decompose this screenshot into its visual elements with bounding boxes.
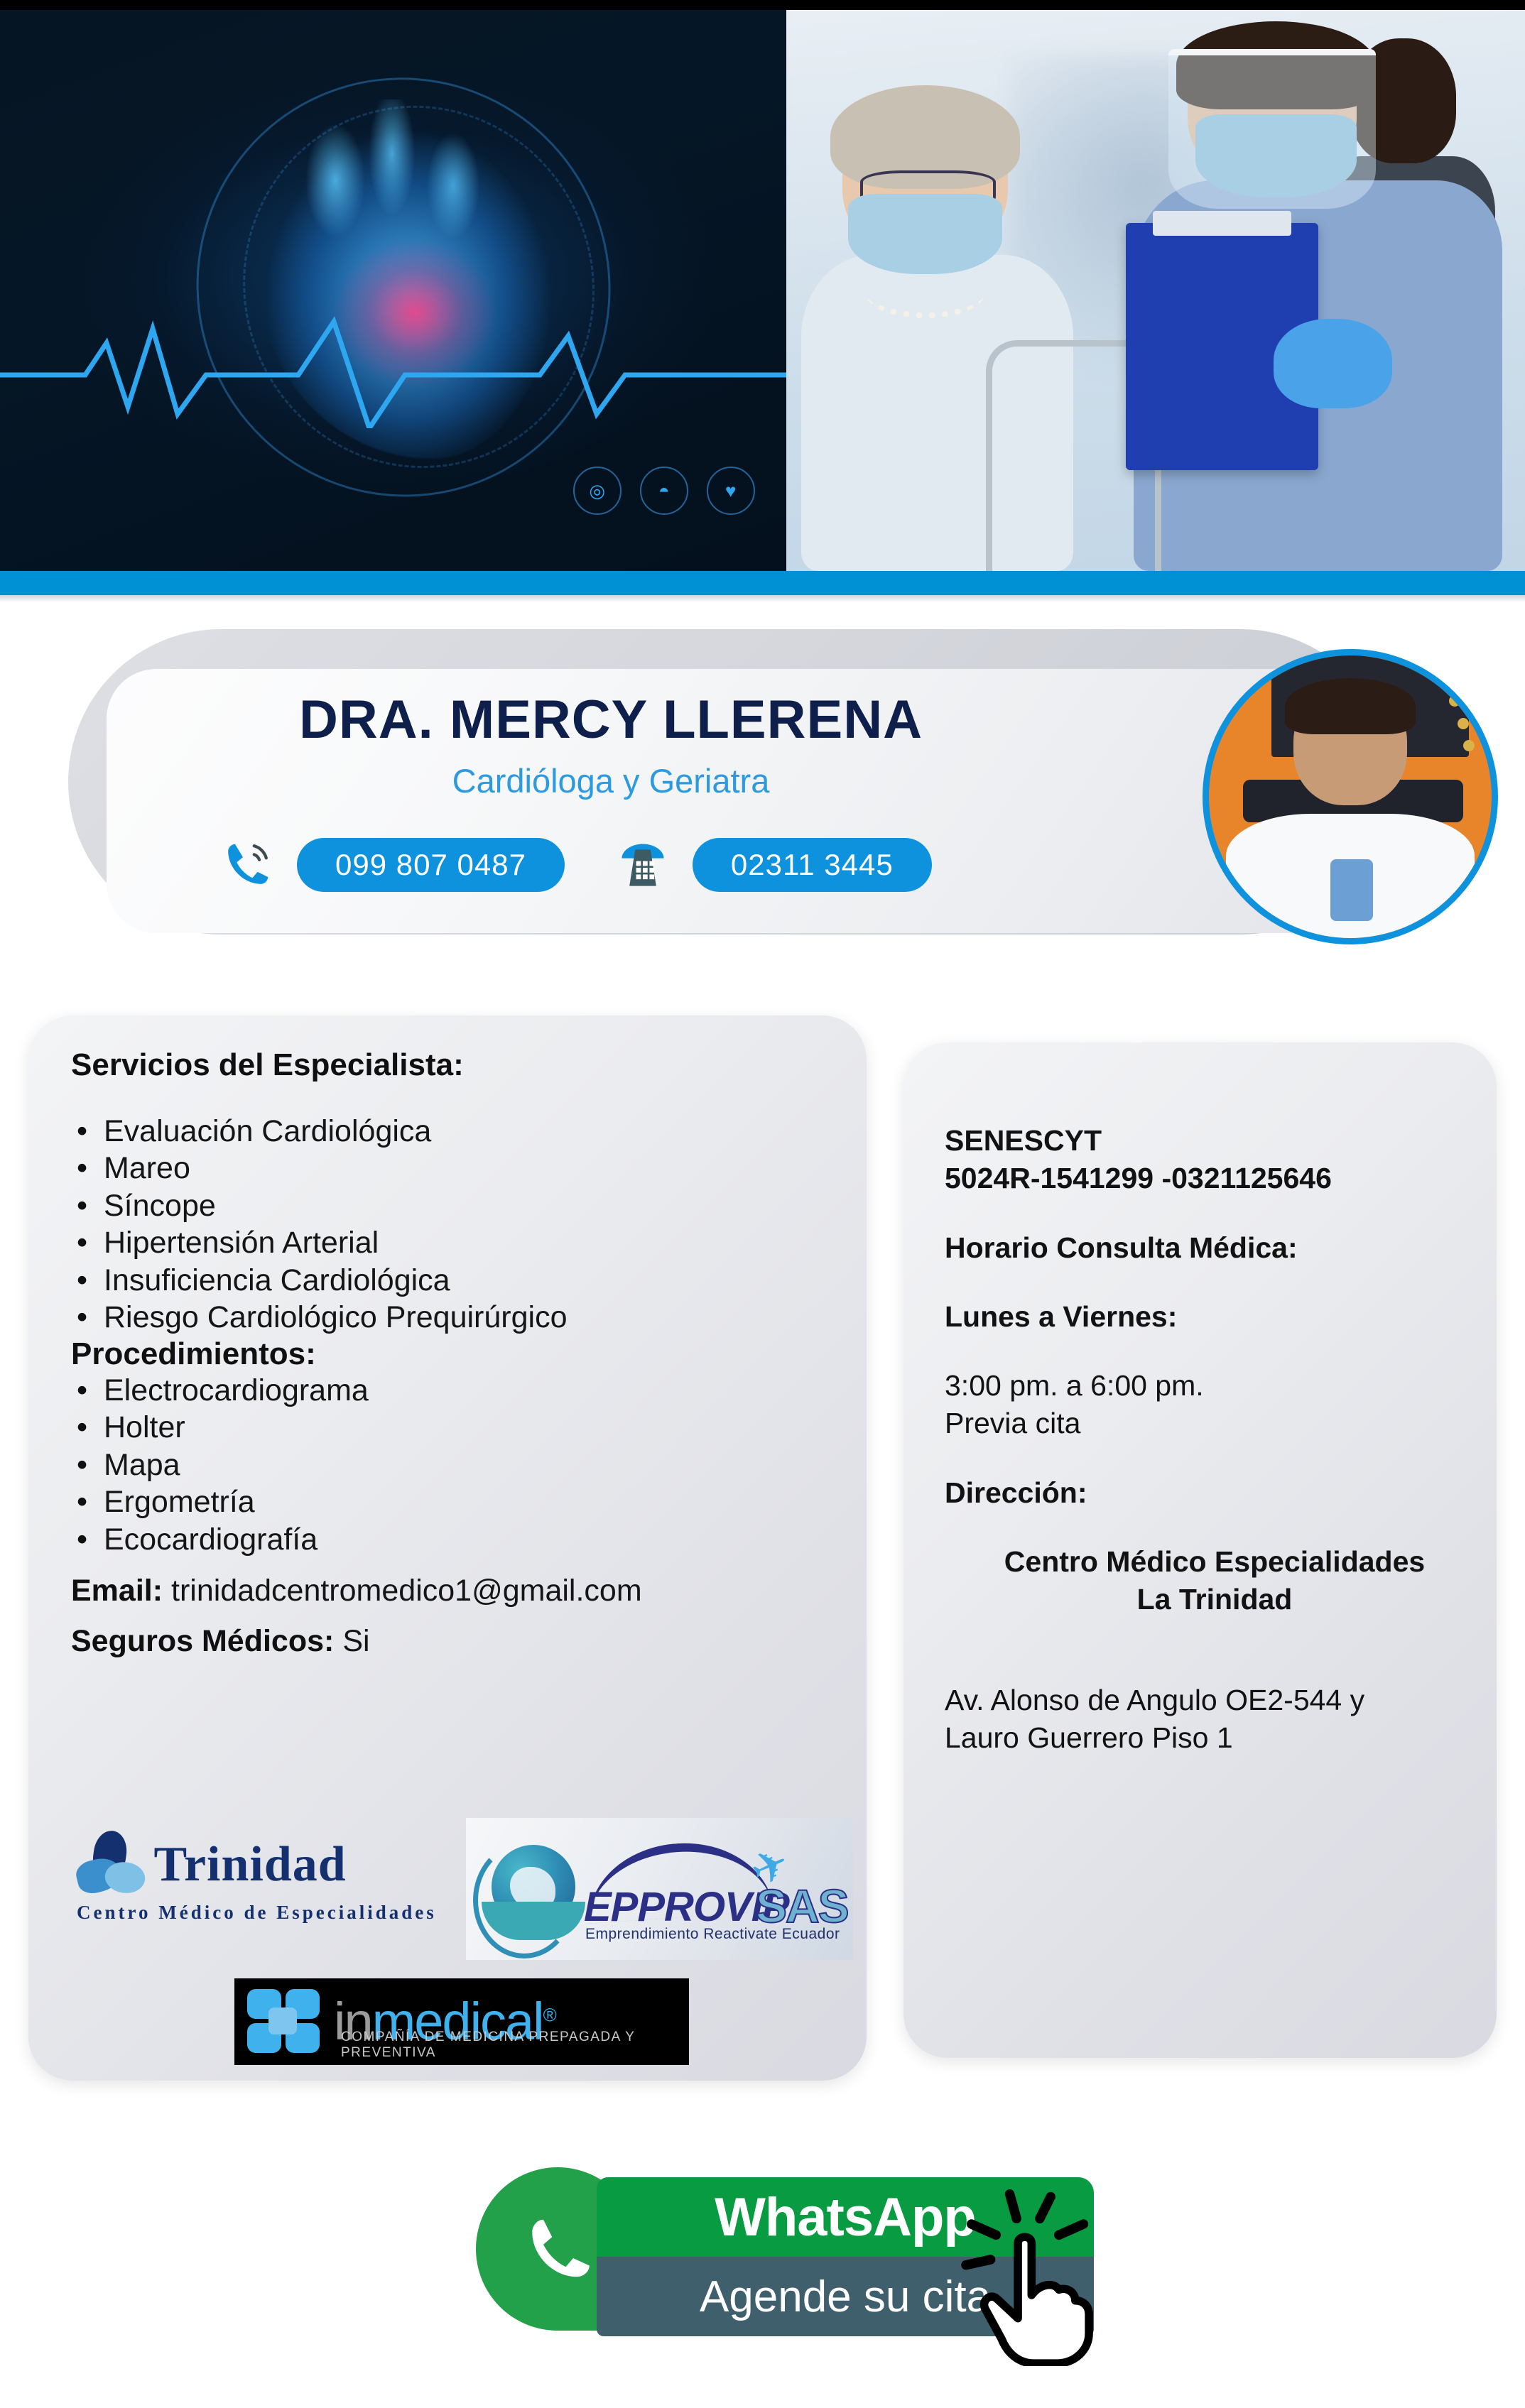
inmedical-logo: inmedical® COMPAÑÍA DE MEDICINA PREPAGAD… (234, 1978, 689, 2065)
contact-row: 099 807 0487 02311 3445 (213, 831, 932, 899)
services-panel-body: Servicios del Especialista: Evaluación C… (71, 1047, 831, 1659)
list-item: Ecocardiografía (71, 1521, 831, 1558)
hours-value: 3:00 pm. a 6:00 pm. (945, 1367, 1485, 1405)
senescyt-codes: 5024R-1541299 -0321125646 (945, 1160, 1485, 1197)
four-squares-icon (247, 1989, 325, 2054)
address-heading: Dirección: (945, 1474, 1485, 1512)
heart-vessels (283, 99, 519, 279)
epprovip-logo: ✈ EPPROVIP SAS Emprendimiento Reactivate… (466, 1818, 853, 1960)
phone-handset-icon (519, 2208, 598, 2288)
heart-hologram-image: ◎ ◓ ♥ (0, 10, 786, 571)
doctor-portrait (1203, 649, 1498, 944)
top-black-strip (0, 0, 1525, 10)
mobile-phone-icon (213, 831, 281, 899)
email-value[interactable]: trinidadcentromedico1@gmail.com (171, 1574, 642, 1608)
services-heading: Servicios del Especialista: (71, 1047, 831, 1083)
trinidad-tagline: Centro Médico de Especialidades (77, 1902, 453, 1924)
insurance-value: Si (342, 1624, 369, 1658)
insurance-label: Seguros Médicos: (71, 1624, 334, 1658)
epprovip-sas-suffix: SAS (756, 1879, 848, 1933)
header-image-band: ◎ ◓ ♥ (0, 10, 1525, 571)
whatsapp-cta[interactable]: WhatsApp Agende su cita (455, 2137, 1165, 2372)
trinidad-wordmark: Trinidad (153, 1836, 346, 1893)
partner-logo-row: Trinidad Centro Médico de Especialidades… (77, 1818, 851, 1981)
pointing-hand-cursor-icon (952, 2189, 1122, 2366)
divider-shadow (0, 595, 1525, 602)
address-line-1: Av. Alonso de Angulo OE2-544 y (945, 1682, 1485, 1719)
blue-divider-bar (0, 571, 1525, 595)
list-item: Ergometría (71, 1483, 831, 1520)
list-item: Insuficiencia Cardiológica (71, 1262, 831, 1299)
address-line-2: Lauro Guerrero Piso 1 (945, 1719, 1485, 1757)
list-item: Síncope (71, 1187, 831, 1224)
whatsapp-subtitle: Agende su cita (700, 2272, 991, 2322)
epprovip-tagline: Emprendimiento Reactivate Ecuador (585, 1926, 840, 1943)
clinic-consultation-image (786, 10, 1525, 571)
list-item: Riesgo Cardiológico Prequirúrgico (71, 1299, 831, 1336)
info-panel-body: SENESCYT 5024R-1541299 -0321125646 Horar… (945, 1122, 1485, 1757)
dna-icon: ◓ (640, 467, 688, 515)
procedures-heading: Procedimientos: (71, 1336, 831, 1372)
days-label: Lunes a Viernes: (945, 1298, 1485, 1336)
registered-trademark-icon: ® (543, 2004, 555, 2025)
list-item: Mapa (71, 1447, 831, 1483)
list-item: Holter (71, 1409, 831, 1446)
clinic-name-line-1: Centro Médico Especialidades (945, 1543, 1485, 1581)
email-label: Email: (71, 1574, 163, 1608)
ecg-line-icon (0, 307, 786, 428)
list-item: Mareo (71, 1150, 831, 1187)
whatsapp-title: WhatsApp (715, 2186, 976, 2248)
landline-phone-pill[interactable]: 02311 3445 (693, 838, 932, 892)
gloved-hand (1274, 319, 1391, 408)
stethoscope-icon: ◎ (573, 467, 622, 515)
heartbeat-icon: ♥ (707, 467, 755, 515)
doctor-specialty: Cardióloga y Geriatra (107, 761, 1115, 800)
list-item: Hipertensión Arterial (71, 1224, 831, 1261)
appointment-note: Previa cita (945, 1405, 1485, 1442)
insurance-row: Seguros Médicos: Si (71, 1624, 831, 1659)
mobile-phone-pill[interactable]: 099 807 0487 (297, 838, 565, 892)
list-item: Electrocardiograma (71, 1372, 831, 1409)
procedures-list: Electrocardiograma Holter Mapa Ergometrí… (71, 1372, 831, 1558)
services-list: Evaluación Cardiológica Mareo Síncope Hi… (71, 1113, 831, 1336)
senescyt-label: SENESCYT (945, 1122, 1485, 1160)
email-row: Email: trinidadcentromedico1@gmail.com (71, 1574, 831, 1608)
hud-icon-group: ◎ ◓ ♥ (573, 467, 755, 515)
clinic-name-line-2: La Trinidad (945, 1581, 1485, 1618)
list-item: Evaluación Cardiológica (71, 1113, 831, 1150)
schedule-heading: Horario Consulta Médica: (945, 1229, 1485, 1267)
trinity-knot-icon (77, 1831, 145, 1899)
trinidad-logo: Trinidad Centro Médico de Especialidades (77, 1831, 453, 1924)
doctor-name: DRA. MERCY LLERENA (107, 689, 1115, 751)
landline-phone-icon (609, 831, 677, 899)
inmedical-tagline: COMPAÑÍA DE MEDICINA PREPAGADA Y PREVENT… (341, 2030, 689, 2061)
